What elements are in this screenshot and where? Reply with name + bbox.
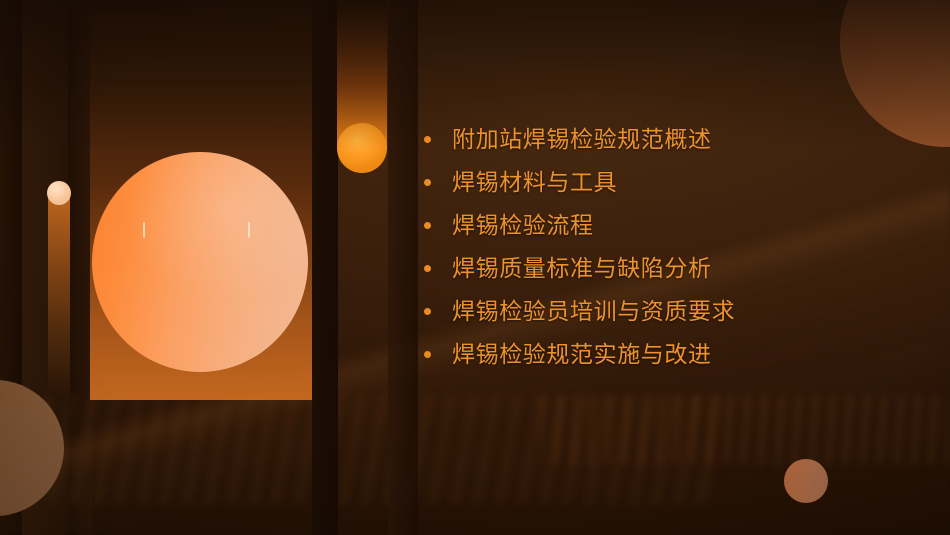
background-texture-right <box>540 395 950 465</box>
bullet-item-label: 附加站焊锡检验规范概述 <box>452 127 712 151</box>
bullet-dot-icon <box>424 222 431 229</box>
orange-ball-shape <box>337 123 387 173</box>
decorative-pin-bar <box>48 190 70 395</box>
bullet-item-label: 焊锡检验流程 <box>452 213 594 237</box>
bullet-dot-icon <box>424 351 431 358</box>
presentation-slide: 附加站焊锡检验规范概述 焊锡材料与工具 焊锡检验流程 焊锡质量标准与缺陷分析 焊… <box>0 0 950 535</box>
bullet-item-label: 焊锡材料与工具 <box>452 170 617 194</box>
agenda-bullet-list: 附加站焊锡检验规范概述 焊锡材料与工具 焊锡检验流程 焊锡质量标准与缺陷分析 焊… <box>424 118 924 376</box>
bullet-item-label: 焊锡检验员培训与资质要求 <box>452 299 735 323</box>
background-strip <box>312 0 338 535</box>
bullet-item-label: 焊锡质量标准与缺陷分析 <box>452 256 712 280</box>
bullet-item-label: 焊锡检验规范实施与改进 <box>452 342 712 366</box>
list-item[interactable]: 焊锡检验员培训与资质要求 <box>424 290 924 333</box>
background-strip <box>388 0 418 535</box>
list-item[interactable]: 附加站焊锡检验规范概述 <box>424 118 924 161</box>
tan-circle-bottom-right-shape <box>784 459 828 503</box>
sphere-tick-mark <box>248 222 250 238</box>
bullet-dot-icon <box>424 179 431 186</box>
bullet-dot-icon <box>424 265 431 272</box>
list-item[interactable]: 焊锡质量标准与缺陷分析 <box>424 247 924 290</box>
sphere-tick-mark <box>143 222 145 238</box>
large-sphere-shape <box>92 152 308 372</box>
list-item[interactable]: 焊锡材料与工具 <box>424 161 924 204</box>
bullet-dot-icon <box>424 136 431 143</box>
peach-ball-shape <box>47 181 71 205</box>
list-item[interactable]: 焊锡检验规范实施与改进 <box>424 333 924 376</box>
bullet-dot-icon <box>424 308 431 315</box>
list-item[interactable]: 焊锡检验流程 <box>424 204 924 247</box>
